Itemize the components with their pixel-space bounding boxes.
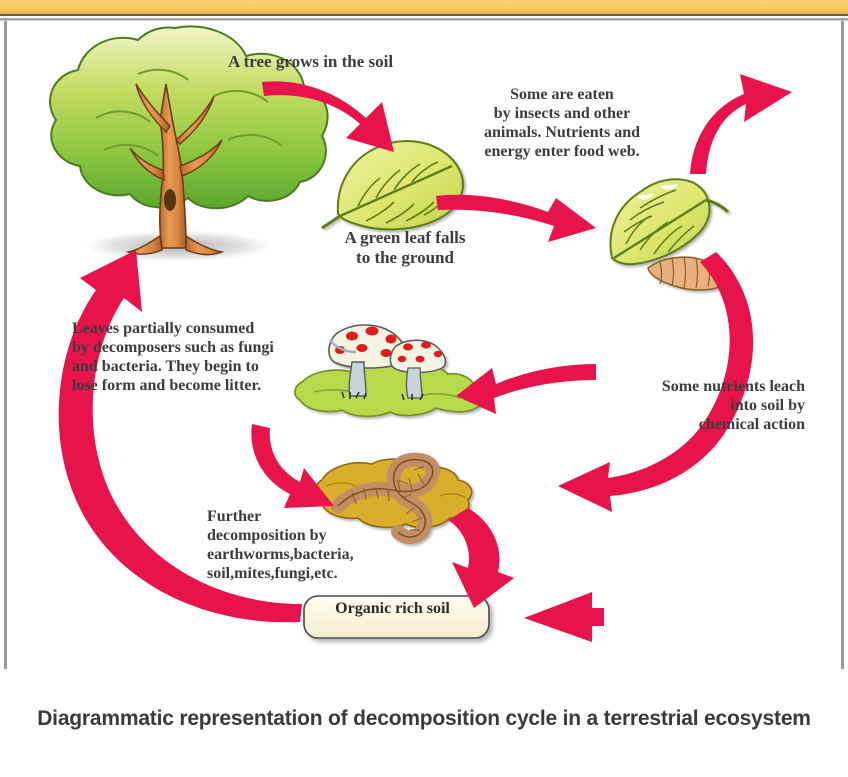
label-nutrients-leach-line-1: Some nutrients leach: [600, 378, 805, 397]
label-some-eaten-line-2: by insects and other: [462, 105, 662, 124]
label-tree-grows: A tree grows in the soil: [228, 52, 393, 72]
label-further-line-2: decomposition by: [207, 527, 407, 546]
label-nutrients-leach-line-2: into soil by: [600, 397, 805, 416]
label-organic-rich-soil: Organic rich soil: [300, 600, 485, 618]
arrow-worm-to-soil: [448, 508, 514, 608]
arrow-right-to-soil: [524, 592, 604, 642]
label-nutrients-leach-line-3: chemical action: [600, 416, 805, 435]
label-some-eaten-line-4: energy enter food web.: [462, 143, 662, 162]
figure-caption: Diagrammatic representation of decomposi…: [0, 704, 848, 734]
label-some-eaten: Some are eaten by insects and other anim…: [462, 86, 662, 162]
label-further-line-4: soil,mites,fungi,etc.: [207, 565, 407, 584]
label-leaves-consumed-line-2: by decomposers such as fungi: [72, 339, 322, 358]
label-leaves-consumed: Leaves partially consumed by decomposers…: [72, 320, 322, 396]
arrow-mushrooms-to-worm: [251, 424, 334, 508]
label-green-leaf-falls: A green leaf falls to the ground: [330, 228, 480, 268]
label-green-leaf-line-2: to the ground: [330, 248, 480, 268]
label-further-line-3: earthworms,bacteria,: [207, 546, 407, 565]
label-nutrients-leach: Some nutrients leach into soil by chemic…: [600, 378, 805, 435]
label-leaves-consumed-line-1: Leaves partially consumed: [72, 320, 322, 339]
diagram-page: A tree grows in the soil Some are eaten …: [0, 0, 848, 777]
label-green-leaf-line-1: A green leaf falls: [330, 228, 480, 248]
label-some-eaten-line-3: animals. Nutrients and: [462, 124, 662, 143]
label-leaves-consumed-line-4: lose form and become litter.: [72, 377, 322, 396]
label-some-eaten-line-1: Some are eaten: [462, 86, 662, 105]
fungi-on-litter-illustration: [295, 325, 483, 416]
green-leaf-illustration: [322, 141, 463, 229]
label-further-line-1: Further: [207, 508, 407, 527]
label-further-decomposition: Further decomposition by earthworms,bact…: [207, 508, 407, 584]
arrow-eaten-leaf-to-foodweb: [690, 74, 792, 174]
label-leaves-consumed-line-3: and bacteria. They begin to: [72, 358, 322, 377]
